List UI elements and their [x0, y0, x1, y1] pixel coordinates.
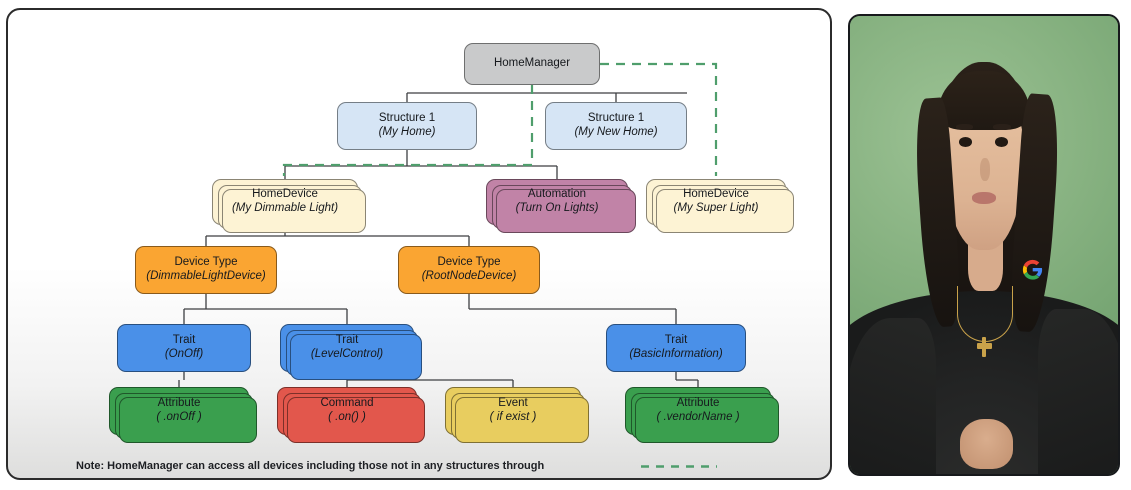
node-label-line2: (OnOff) — [165, 348, 203, 362]
node-label-line2: (BasicInformation) — [629, 348, 722, 362]
node-command-on[interactable]: Command ( .on() ) — [277, 387, 417, 435]
screen: HomeManager Structure 1 (My Home) Struct… — [0, 0, 1131, 490]
node-home-manager[interactable]: HomeManager — [464, 43, 600, 85]
presenter-video[interactable] — [848, 14, 1120, 476]
node-attribute-onoff[interactable]: Attribute ( .onOff ) — [109, 387, 249, 435]
node-label-line2: (LevelControl) — [311, 348, 383, 362]
google-g-icon — [1022, 259, 1043, 281]
right-arm — [1038, 309, 1120, 474]
node-label-line1: Structure 1 — [588, 112, 644, 126]
node-label-line1: Structure 1 — [379, 112, 435, 126]
node-trait-onoff[interactable]: Trait (OnOff) — [117, 324, 251, 372]
node-structure-my-home[interactable]: Structure 1 (My Home) — [337, 102, 477, 150]
slide-note: Note: HomeManager can access all devices… — [76, 460, 544, 472]
left-arm — [848, 318, 936, 474]
architecture-diagram: HomeManager Structure 1 (My Home) Struct… — [8, 10, 830, 478]
node-label-line2: ( .vendorName ) — [656, 411, 739, 425]
node-automation[interactable]: Automation (Turn On Lights) — [486, 179, 628, 225]
node-label-line2: (DimmableLightDevice) — [146, 270, 266, 284]
node-homedevice-super[interactable]: HomeDevice (My Super Light) — [646, 179, 786, 225]
node-label-line2: ( .on() ) — [328, 411, 366, 425]
right-eyebrow — [993, 124, 1010, 130]
node-label-line1: HomeDevice — [252, 188, 318, 202]
node-label-line1: HomeDevice — [683, 188, 749, 202]
node-trait-levelcontrol[interactable]: Trait (LevelControl) — [280, 324, 414, 372]
node-label-line1: Device Type — [174, 256, 237, 270]
node-label-line1: HomeManager — [494, 57, 570, 71]
node-attribute-vendorname[interactable]: Attribute ( .vendorName ) — [625, 387, 771, 435]
left-eyebrow — [956, 124, 973, 130]
node-trait-basicinformation[interactable]: Trait (BasicInformation) — [606, 324, 746, 372]
node-devicetype-rootnode[interactable]: Device Type (RootNodeDevice) — [398, 246, 540, 294]
node-label-line1: Command — [320, 397, 373, 411]
node-homedevice-dimmable[interactable]: HomeDevice (My Dimmable Light) — [212, 179, 358, 225]
node-label-line1: Trait — [665, 334, 688, 348]
cross-pendant-bar — [977, 343, 992, 349]
node-event-ifexist[interactable]: Event ( if exist ) — [445, 387, 581, 435]
node-structure-my-new-home[interactable]: Structure 1 (My New Home) — [545, 102, 687, 150]
hands — [960, 419, 1014, 469]
node-label-line1: Event — [498, 397, 527, 411]
node-label-line1: Trait — [336, 334, 359, 348]
node-label-line2: (My Super Light) — [673, 202, 758, 216]
node-devicetype-dimmablelight[interactable]: Device Type (DimmableLightDevice) — [135, 246, 277, 294]
node-label-line2: (My Home) — [379, 126, 436, 140]
dashed-legend-icon — [640, 465, 718, 468]
node-label-line2: (Turn On Lights) — [516, 202, 599, 216]
slide-panel: HomeManager Structure 1 (My Home) Struct… — [6, 8, 832, 480]
node-label-line1: Device Type — [437, 256, 500, 270]
node-label-line1: Attribute — [158, 397, 201, 411]
node-label-line1: Attribute — [677, 397, 720, 411]
node-label-line1: Trait — [173, 334, 196, 348]
nose — [980, 158, 990, 181]
node-label-line1: Automation — [528, 188, 586, 202]
node-label-line2: (My New Home) — [574, 126, 657, 140]
necklace-chain — [957, 286, 1013, 342]
node-label-line2: ( if exist ) — [490, 411, 537, 425]
mouth — [972, 192, 996, 204]
node-label-line2: (My Dimmable Light) — [232, 202, 338, 216]
node-label-line2: (RootNodeDevice) — [422, 270, 517, 284]
node-label-line2: ( .onOff ) — [156, 411, 201, 425]
